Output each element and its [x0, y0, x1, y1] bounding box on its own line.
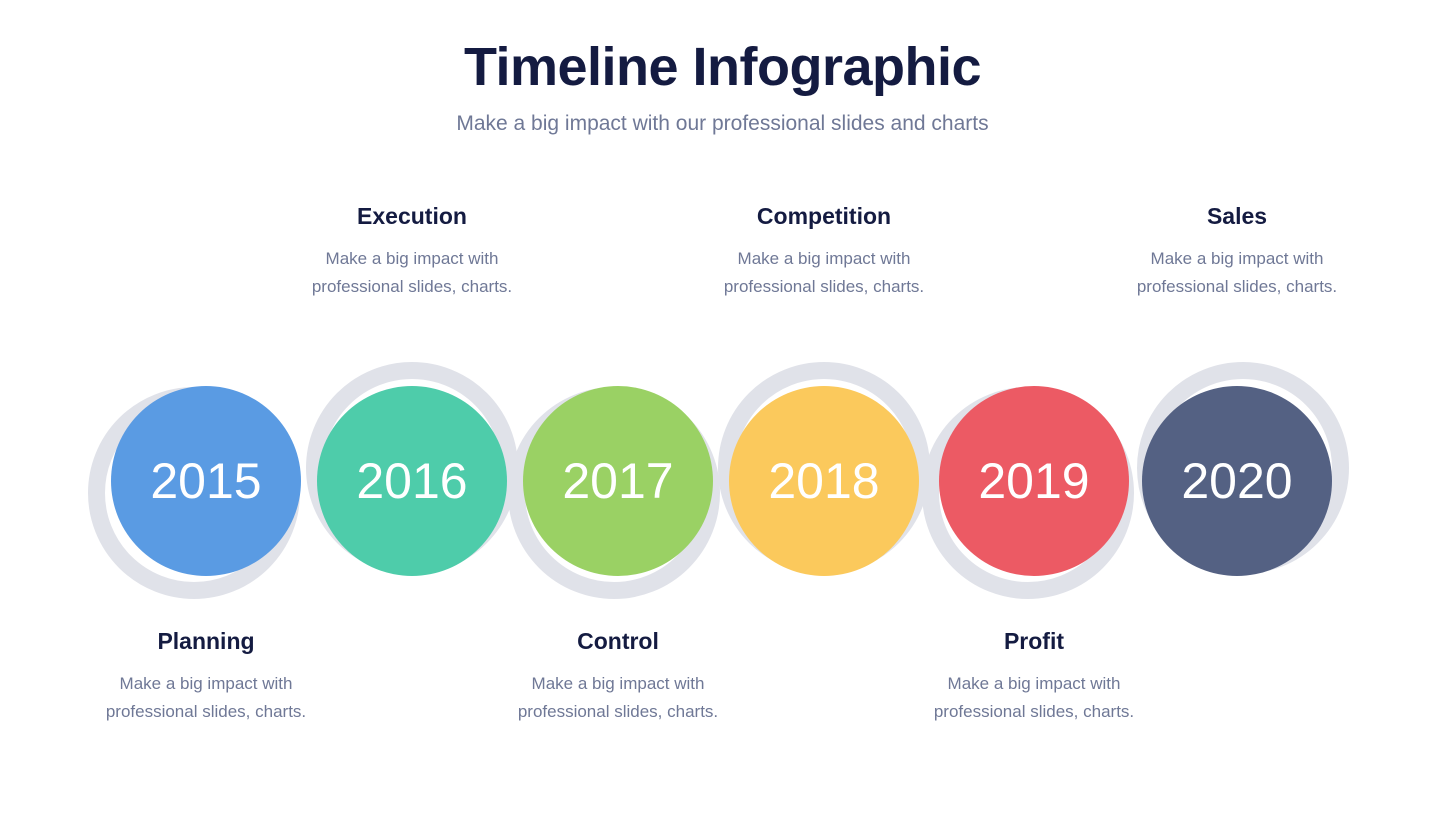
- timeline-label-title: Sales: [1122, 203, 1352, 229]
- timeline-label-title: Profit: [919, 628, 1149, 654]
- timeline-label-description: Make a big impact with professional slid…: [919, 670, 1149, 725]
- infographic-slide: Timeline Infographic Make a big impact w…: [0, 0, 1445, 813]
- timeline-label-description: Make a big impact with professional slid…: [503, 670, 733, 725]
- timeline-circle-2016[interactable]: 2016: [317, 386, 507, 576]
- timeline-label-profit: ProfitMake a big impact with professiona…: [919, 628, 1149, 726]
- timeline-year-label: 2017: [562, 456, 673, 506]
- timeline-label-title: Execution: [297, 203, 527, 229]
- timeline-label-title: Planning: [91, 628, 321, 654]
- timeline-year-label: 2016: [356, 456, 467, 506]
- timeline-track: 2015PlanningMake a big impact with profe…: [0, 0, 1445, 813]
- timeline-circle-2020[interactable]: 2020: [1142, 386, 1332, 576]
- timeline-label-sales: SalesMake a big impact with professional…: [1122, 203, 1352, 301]
- timeline-circle-2018[interactable]: 2018: [729, 386, 919, 576]
- timeline-label-control: ControlMake a big impact with profession…: [503, 628, 733, 726]
- timeline-label-description: Make a big impact with professional slid…: [709, 245, 939, 300]
- timeline-label-execution: ExecutionMake a big impact with professi…: [297, 203, 527, 301]
- timeline-label-title: Competition: [709, 203, 939, 229]
- timeline-year-label: 2019: [978, 456, 1089, 506]
- timeline-circle-2015[interactable]: 2015: [111, 386, 301, 576]
- timeline-label-title: Control: [503, 628, 733, 654]
- timeline-year-label: 2015: [150, 456, 261, 506]
- timeline-year-label: 2018: [768, 456, 879, 506]
- timeline-label-description: Make a big impact with professional slid…: [297, 245, 527, 300]
- timeline-label-competition: CompetitionMake a big impact with profes…: [709, 203, 939, 301]
- timeline-circle-2017[interactable]: 2017: [523, 386, 713, 576]
- timeline-circle-2019[interactable]: 2019: [939, 386, 1129, 576]
- timeline-label-planning: PlanningMake a big impact with professio…: [91, 628, 321, 726]
- timeline-label-description: Make a big impact with professional slid…: [1122, 245, 1352, 300]
- timeline-year-label: 2020: [1181, 456, 1292, 506]
- timeline-label-description: Make a big impact with professional slid…: [91, 670, 321, 725]
